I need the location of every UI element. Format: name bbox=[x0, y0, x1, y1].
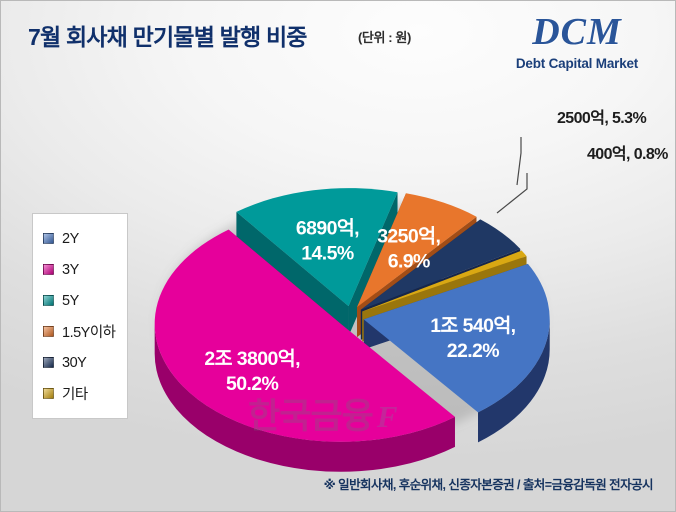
pie-label-5Y: 14.5% bbox=[301, 243, 354, 265]
infographic-canvas: 7월 회사채 만기물별 발행 비중 (단위 : 원) DCM Debt Capi… bbox=[0, 0, 676, 512]
pie-label-2Y: 22.2% bbox=[447, 340, 500, 362]
legend-label-etc: 기타 bbox=[62, 383, 88, 404]
header: 7월 회사채 만기물별 발행 비중 (단위 : 원) DCM Debt Capi… bbox=[1, 1, 676, 89]
legend-item-etc[interactable]: 기타 bbox=[43, 378, 121, 409]
pie-leader-lines bbox=[497, 137, 527, 213]
legend-label-2y: 2Y bbox=[62, 231, 79, 247]
pie-label-30Y: 2500억, 5.3% bbox=[557, 108, 646, 127]
legend-label-1-5y-under: 1.5Y이하 bbox=[62, 321, 116, 342]
chart-legend: 2Y 3Y 5Y 1.5Y이하 30Y 기타 bbox=[32, 213, 128, 419]
legend-label-30y: 30Y bbox=[62, 355, 86, 371]
logo-tagline: Debt Capital Market bbox=[497, 56, 657, 71]
legend-item-5y[interactable]: 5Y bbox=[43, 285, 121, 316]
pie-label-3Y: 50.2% bbox=[226, 373, 279, 395]
legend-swatch-5y bbox=[43, 295, 54, 306]
pie-label-기타: 400억, 0.8% bbox=[587, 144, 668, 163]
legend-swatch-2y bbox=[43, 233, 54, 244]
legend-item-1-5y-under[interactable]: 1.5Y이하 bbox=[43, 316, 121, 347]
unit-note: (단위 : 원) bbox=[358, 27, 411, 46]
legend-swatch-3y bbox=[43, 264, 54, 275]
pie-label-5Y: 6890억, bbox=[296, 218, 359, 240]
legend-label-5y: 5Y bbox=[62, 293, 79, 309]
legend-swatch-30y bbox=[43, 357, 54, 368]
logo-wordmark: DCM bbox=[497, 13, 657, 51]
leader-line-기타 bbox=[497, 173, 527, 213]
pie-chart: 1조 540억,22.2%2조 3800억,50.2%6890억,14.5%32… bbox=[119, 89, 676, 459]
pie-label-1.5Y이하: 3250억, bbox=[377, 225, 440, 247]
legend-label-3y: 3Y bbox=[62, 262, 79, 278]
pie-label-3Y: 2조 3800억, bbox=[204, 348, 300, 370]
page-title: 7월 회사채 만기물별 발행 비중 bbox=[28, 18, 307, 52]
dcm-logo: DCM Debt Capital Market bbox=[497, 13, 657, 71]
pie-chart-svg: 1조 540억,22.2%2조 3800억,50.2%6890억,14.5%32… bbox=[119, 89, 676, 459]
source-note: ※ 일반회사채, 후순위채, 신종자본증권 / 출처=금융감독원 전자공시 bbox=[324, 474, 653, 493]
legend-swatch-etc bbox=[43, 388, 54, 399]
legend-item-2y[interactable]: 2Y bbox=[43, 223, 121, 254]
legend-swatch-1-5y-under bbox=[43, 326, 54, 337]
legend-item-3y[interactable]: 3Y bbox=[43, 254, 121, 285]
legend-item-30y[interactable]: 30Y bbox=[43, 347, 121, 378]
leader-line-30Y bbox=[517, 137, 521, 185]
pie-label-2Y: 1조 540억, bbox=[430, 315, 515, 337]
pie-label-1.5Y이하: 6.9% bbox=[388, 250, 430, 272]
